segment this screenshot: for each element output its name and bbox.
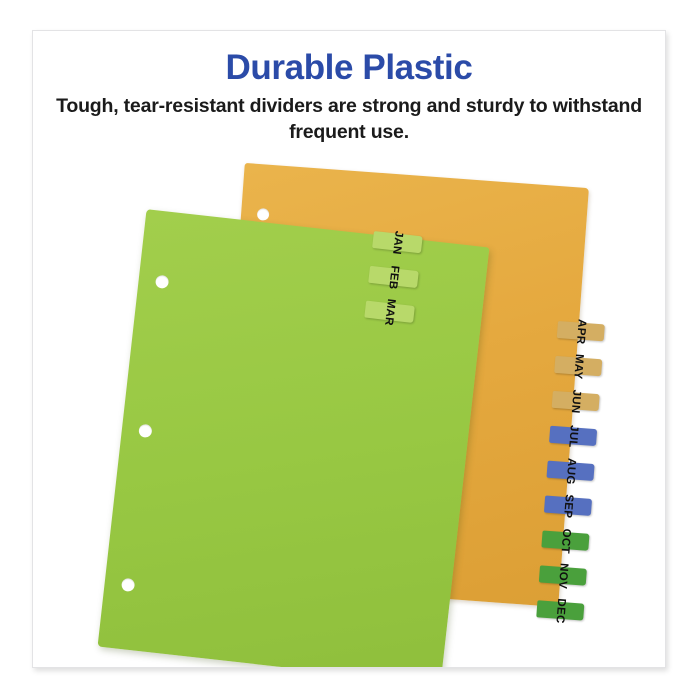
punch-hole xyxy=(138,424,152,438)
product-image-stage: Durable Plastic Tough, tear-resistant di… xyxy=(0,0,700,700)
product-card: Durable Plastic Tough, tear-resistant di… xyxy=(32,30,666,668)
page-subtitle: Tough, tear-resistant dividers are stron… xyxy=(54,93,644,145)
month-tab-sep: SEP xyxy=(544,496,592,516)
month-tab-jun: JUN xyxy=(552,391,600,411)
month-tab-jul: JUL xyxy=(549,426,597,446)
month-tab-apr: APR xyxy=(557,321,605,341)
green-divider-sheet xyxy=(98,209,490,668)
month-tab-oct: OCT xyxy=(541,530,589,550)
month-tab-label: DEC xyxy=(553,587,568,635)
month-tab-dec: DEC xyxy=(536,600,584,620)
month-tab-aug: AUG xyxy=(547,461,595,481)
punch-hole xyxy=(121,578,135,592)
punch-hole xyxy=(257,208,270,221)
product-photo: JANFEBMAR APRMAYJUNJULAUGSEPOCTNOVDEC xyxy=(33,141,666,668)
page-title: Durable Plastic xyxy=(33,49,665,88)
punch-hole xyxy=(155,275,169,289)
month-tab-nov: NOV xyxy=(539,565,587,585)
month-tab-may: MAY xyxy=(554,356,602,376)
